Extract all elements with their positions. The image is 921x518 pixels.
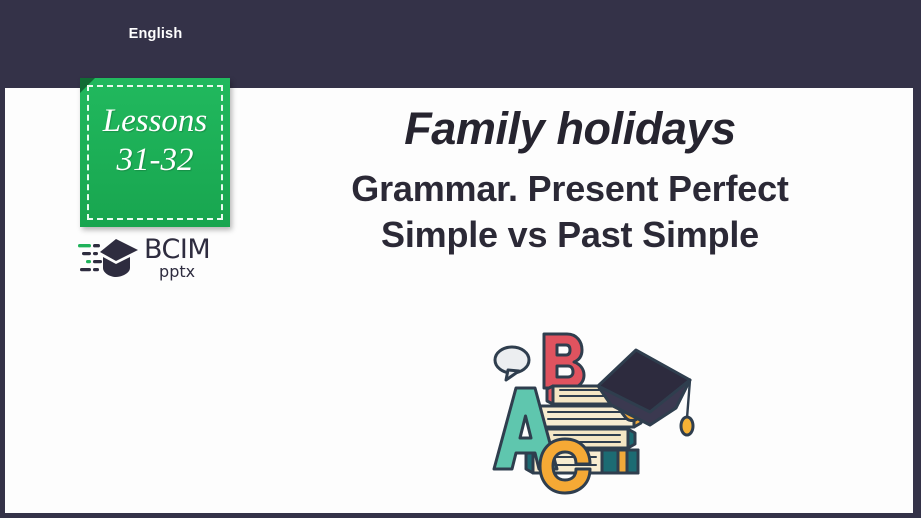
subtitle-line-2: Simple vs Past Simple [255,212,885,258]
brand-logo: BCIM pptx [78,232,234,284]
page-title: Family holidays [255,105,885,154]
brand-wordmark: BCIM pptx [144,236,210,280]
subject-label: English [113,27,198,42]
tag-line-lessons: Lessons [80,102,230,141]
letter-b-shape [544,334,584,388]
slide-background: English Lessons 31-32 [0,0,921,518]
page-subtitle: Grammar. Present Perfect Simple vs Past … [255,166,885,258]
lesson-number-tag: Lessons 31-32 [80,78,230,227]
tag-line-numbers: 31-32 [80,141,230,180]
brand-name: BCIM [144,236,210,263]
title-block: Family holidays Grammar. Present Perfect… [255,105,885,258]
graduation-cap-icon [78,235,140,281]
brand-subtitle: pptx [144,264,210,280]
subtitle-line-1: Grammar. Present Perfect [255,166,885,212]
tag-text-group: Lessons 31-32 [80,102,230,180]
abc-books-illustration [478,326,696,501]
speech-bubble-icon [495,347,529,380]
